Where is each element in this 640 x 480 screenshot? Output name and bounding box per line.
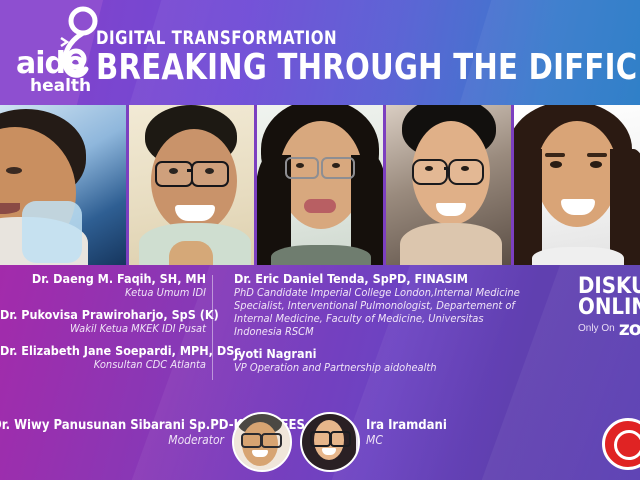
idi-red-circle-logo-icon — [602, 418, 640, 470]
speaker-entry: Jyoti Nagrani VP Operation and Partnersh… — [234, 347, 534, 374]
platform-line-1: DISKUSI — [578, 276, 640, 297]
logo-sub-wordmark: health — [30, 76, 91, 96]
speaker-photo-2 — [129, 105, 258, 265]
zoom-logo: zoom — [619, 318, 640, 340]
speaker-photo-3 — [257, 105, 386, 265]
speaker-name: Dr. Daeng M. Faqih, SH, MH — [0, 272, 206, 286]
mc-role: MC — [366, 433, 447, 447]
speaker-role: PhD Candidate Imperial College London,In… — [234, 286, 534, 338]
speaker-entry: Dr. Elizabeth Jane Soepardi, MPH, DSc Ko… — [0, 344, 206, 371]
speaker-entry: Dr. Eric Daniel Tenda, SpPD, FINASIM PhD… — [234, 272, 534, 338]
mc-text: Ira Iramdani MC — [366, 418, 447, 447]
speaker-list-left: Dr. Daeng M. Faqih, SH, MH Ketua Umum ID… — [0, 272, 206, 380]
speaker-role: Wakil Ketua MKEK IDI Pusat — [0, 322, 206, 335]
event-kicker: DIGITAL TRANSFORMATION — [96, 28, 589, 48]
speaker-photo-4 — [386, 105, 515, 265]
speaker-name: Dr. Eric Daniel Tenda, SpPD, FINASIM — [234, 272, 534, 286]
banner-header: aido health DIGITAL TRANSFORMATION BREAK… — [0, 0, 640, 105]
event-title: BREAKING THROUGH THE DIFFICULTIES — [96, 49, 600, 87]
speaker-photo-1 — [0, 105, 129, 265]
header-titles: DIGITAL TRANSFORMATION BREAKING THROUGH … — [96, 28, 640, 87]
moderator-role: Moderator — [0, 433, 224, 447]
mc-name: Ira Iramdani — [366, 418, 447, 433]
speaker-role: Konsultan CDC Atlanta — [0, 358, 206, 371]
speaker-entry: Dr. Pukovisa Prawiroharjo, SpS (K) Wakil… — [0, 308, 206, 335]
speaker-column-divider — [212, 275, 213, 380]
mc-avatar — [300, 412, 360, 472]
speaker-role: Ketua Umum IDI — [0, 286, 206, 299]
speaker-name: Jyoti Nagrani — [234, 347, 534, 361]
webinar-banner: aido health DIGITAL TRANSFORMATION BREAK… — [0, 0, 640, 480]
moderator-name: Dr. Wiwy Panusunan Sibarani Sp.PD-KEMD, … — [0, 418, 224, 433]
speaker-photo-strip — [0, 105, 640, 265]
platform-block: DISKUSI ONLINE Only Onzoom — [578, 276, 640, 340]
speaker-entry: Dr. Daeng M. Faqih, SH, MH Ketua Umum ID… — [0, 272, 206, 299]
speaker-name: Dr. Elizabeth Jane Soepardi, MPH, DSc — [0, 344, 206, 358]
moderator-text: Dr. Wiwy Panusunan Sibarani Sp.PD-KEMD, … — [0, 418, 224, 447]
speaker-role: VP Operation and Partnership aidohealth — [234, 361, 534, 374]
platform-line-2: ONLINE — [578, 297, 640, 318]
moderator-mc-row: Dr. Wiwy Panusunan Sibarani Sp.PD-KEMD, … — [0, 404, 640, 476]
speaker-list-right: Dr. Eric Daniel Tenda, SpPD, FINASIM PhD… — [234, 272, 534, 383]
moderator-avatar — [232, 412, 292, 472]
platform-only-on-label: Only On — [578, 323, 615, 334]
speaker-photo-5 — [514, 105, 640, 265]
speaker-name: Dr. Pukovisa Prawiroharjo, SpS (K) — [0, 308, 206, 322]
